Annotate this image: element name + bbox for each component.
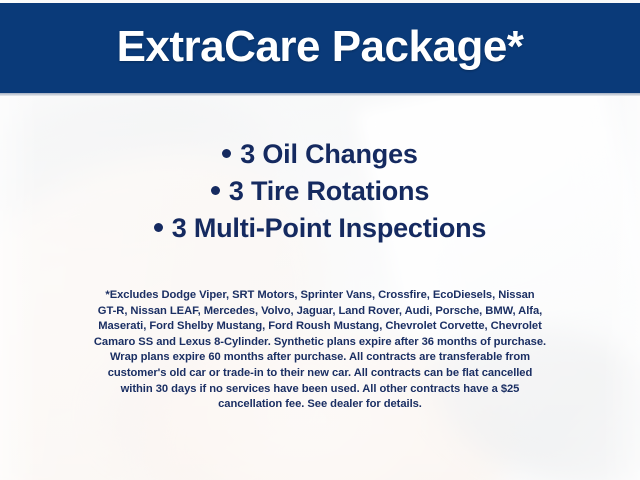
extracare-package-banner: ExtraCare Package* 3 Oil Changes 3 Tire … (0, 0, 640, 480)
page-title: ExtraCare Package* (117, 25, 524, 69)
benefit-label: 3 Tire Rotations (229, 176, 429, 206)
disclaimer-line: *Excludes Dodge Viper, SRT Motors, Sprin… (28, 288, 612, 304)
list-item: 3 Oil Changes (0, 136, 640, 173)
disclaimer-line: Maserati, Ford Shelby Mustang, Ford Rous… (28, 319, 612, 335)
benefit-label: 3 Oil Changes (240, 139, 417, 169)
benefits-list: 3 Oil Changes 3 Tire Rotations 3 Multi-P… (0, 136, 640, 247)
disclaimer-line: Wrap plans expire 60 months after purcha… (28, 350, 612, 366)
benefit-label: 3 Multi-Point Inspections (172, 213, 487, 243)
list-item: 3 Tire Rotations (0, 173, 640, 210)
list-item: 3 Multi-Point Inspections (0, 210, 640, 247)
disclaimer-line: GT-R, Nissan LEAF, Mercedes, Volvo, Jagu… (28, 304, 612, 320)
bullet-dot-icon (154, 223, 163, 232)
header-divider (0, 93, 640, 96)
disclaimer-line: cancellation fee. See dealer for details… (28, 397, 612, 413)
disclaimer-text: *Excludes Dodge Viper, SRT Motors, Sprin… (28, 288, 612, 413)
disclaimer-line: customer's old car or trade-in to their … (28, 366, 612, 382)
bullet-dot-icon (222, 149, 231, 158)
bullet-dot-icon (211, 186, 220, 195)
disclaimer-line: within 30 days if no services have been … (28, 382, 612, 398)
header-band: ExtraCare Package* (0, 3, 640, 93)
disclaimer-line: Camaro SS and Lexus 8-Cylinder. Syntheti… (28, 335, 612, 351)
